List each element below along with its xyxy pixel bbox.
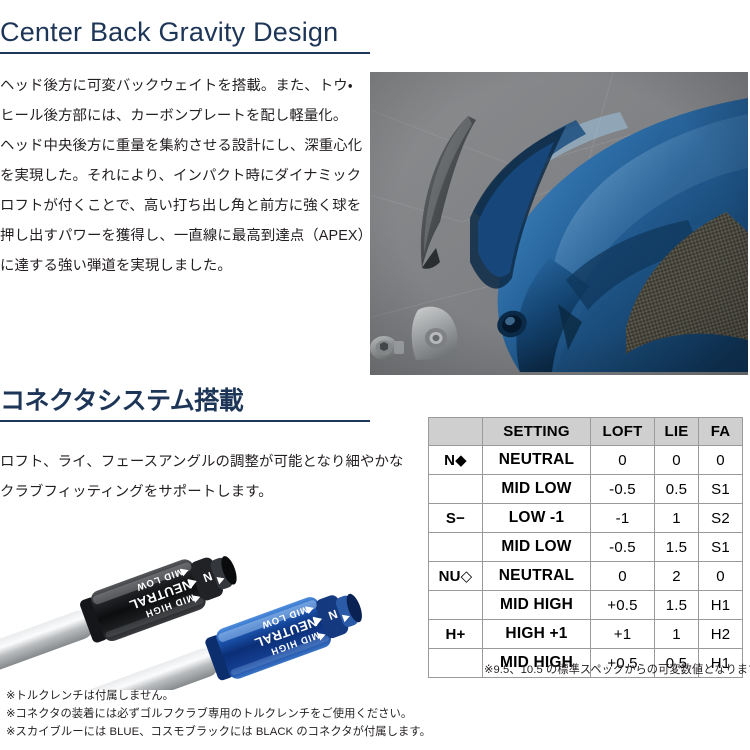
cell-code (429, 475, 483, 504)
footnote-item: ※トルクレンチは付属しません。 (6, 688, 431, 706)
description-paragraph-gravity: ヘッド後方に可変バックウェイトを搭載。また、トウ・ ヒール後方部には、カーボンプ… (0, 72, 372, 282)
table-row: MID LOW -0.5 0.5 S1 (429, 475, 743, 504)
cell-code: NU◇ (429, 562, 483, 591)
spec-table-note: ※9.5、10.5 の標準スペックからの可変数値となります。 (484, 661, 750, 677)
section-header-connector-system: コネクタシステム搭載 (0, 388, 370, 422)
cell-lie: 2 (655, 562, 699, 591)
cell-loft: 0 (591, 562, 655, 591)
copy-line: ロフト、ライ、フェースアングルの調整が可能となり細やかな (0, 448, 390, 478)
cell-setting: NEUTRAL (483, 446, 591, 475)
cell-setting: HIGH +1 (483, 620, 591, 649)
section-title-connector: コネクタシステム搭載 (0, 388, 370, 415)
cell-code (429, 649, 483, 678)
cell-fa: H2 (699, 620, 743, 649)
table-row: H+ HIGH +1 +1 1 H2 (429, 620, 743, 649)
setting-spec-table: SETTING LOFT LIE FA N◆ NEUTRAL 0 0 0 MID… (428, 417, 743, 678)
copy-line: ロフトが付くことで、高い打ち出し角と前方に強く球を (0, 192, 372, 222)
title-underline (0, 420, 370, 422)
table-header-row: SETTING LOFT LIE FA (429, 418, 743, 446)
cell-loft: -1 (591, 504, 655, 533)
cell-lie: 0.5 (655, 475, 699, 504)
table-row: S− LOW -1 -1 1 S2 (429, 504, 743, 533)
table-row: NU◇ NEUTRAL 0 2 0 (429, 562, 743, 591)
cell-fa: S1 (699, 533, 743, 562)
cell-loft: -0.5 (591, 533, 655, 562)
spec-table-container: SETTING LOFT LIE FA N◆ NEUTRAL 0 0 0 MID… (428, 417, 742, 678)
cell-lie: 1.5 (655, 591, 699, 620)
cell-setting: NEUTRAL (483, 562, 591, 591)
cell-loft: 0 (591, 446, 655, 475)
cell-lie: 0 (655, 446, 699, 475)
table-row: MID HIGH +0.5 1.5 H1 (429, 591, 743, 620)
cell-setting: MID LOW (483, 475, 591, 504)
cell-fa: S1 (699, 475, 743, 504)
footnotes: ※トルクレンチは付属しません。 ※コネクタの装着には必ずゴルフクラブ専用のトルク… (6, 688, 431, 742)
copy-line: ヒール後方部には、カーボンプレートを配し軽量化。 (0, 102, 372, 132)
table-row: MID LOW -0.5 1.5 S1 (429, 533, 743, 562)
cell-fa: S2 (699, 504, 743, 533)
col-header-loft: LOFT (591, 418, 655, 446)
copy-line: ヘッド後方に可変バックウェイトを搭載。また、トウ・ (0, 72, 372, 102)
cell-code (429, 591, 483, 620)
driver-head-render (370, 72, 748, 375)
copy-line: ヘッド中央後方に重量を集約させる設計にし、深重心化 (0, 132, 372, 162)
cell-setting: MID HIGH (483, 591, 591, 620)
connector-photo: MID HIGH NEUTRAL MID LOW N (0, 500, 400, 690)
cell-code: N◆ (429, 446, 483, 475)
cell-code (429, 533, 483, 562)
cell-loft: -0.5 (591, 475, 655, 504)
col-header-lie: LIE (655, 418, 699, 446)
description-paragraph-connector: ロフト、ライ、フェースアングルの調整が可能となり細やかな クラブフィッティングを… (0, 448, 390, 508)
col-header-code (429, 418, 483, 446)
cell-code: H+ (429, 620, 483, 649)
section-header-center-back-gravity: Center Back Gravity Design (0, 18, 370, 54)
cell-loft: +1 (591, 620, 655, 649)
cell-lie: 1 (655, 620, 699, 649)
table-row: N◆ NEUTRAL 0 0 0 (429, 446, 743, 475)
footnote-item: ※スカイブルーには BLUE、コスモブラックには BLACK のコネクタが付属し… (6, 724, 431, 742)
cell-lie: 1.5 (655, 533, 699, 562)
page-title: Center Back Gravity Design (0, 18, 370, 47)
title-underline (0, 52, 370, 54)
cell-loft: +0.5 (591, 591, 655, 620)
cell-fa: 0 (699, 446, 743, 475)
cell-fa: 0 (699, 562, 743, 591)
cell-setting: LOW -1 (483, 504, 591, 533)
cell-setting: MID LOW (483, 533, 591, 562)
cell-code: S− (429, 504, 483, 533)
copy-line: 押し出すパワーを獲得し、一直線に最高到達点（APEX） (0, 222, 372, 252)
cell-fa: H1 (699, 591, 743, 620)
copy-line: に達する強い弾道を実現しました。 (0, 252, 372, 282)
col-header-setting: SETTING (483, 418, 591, 446)
footnote-item: ※コネクタの装着には必ずゴルフクラブ専用のトルクレンチをご使用ください。 (6, 706, 431, 724)
copy-line: を実現した。それにより、インパクト時にダイナミック (0, 162, 372, 192)
cell-lie: 1 (655, 504, 699, 533)
col-header-fa: FA (699, 418, 743, 446)
